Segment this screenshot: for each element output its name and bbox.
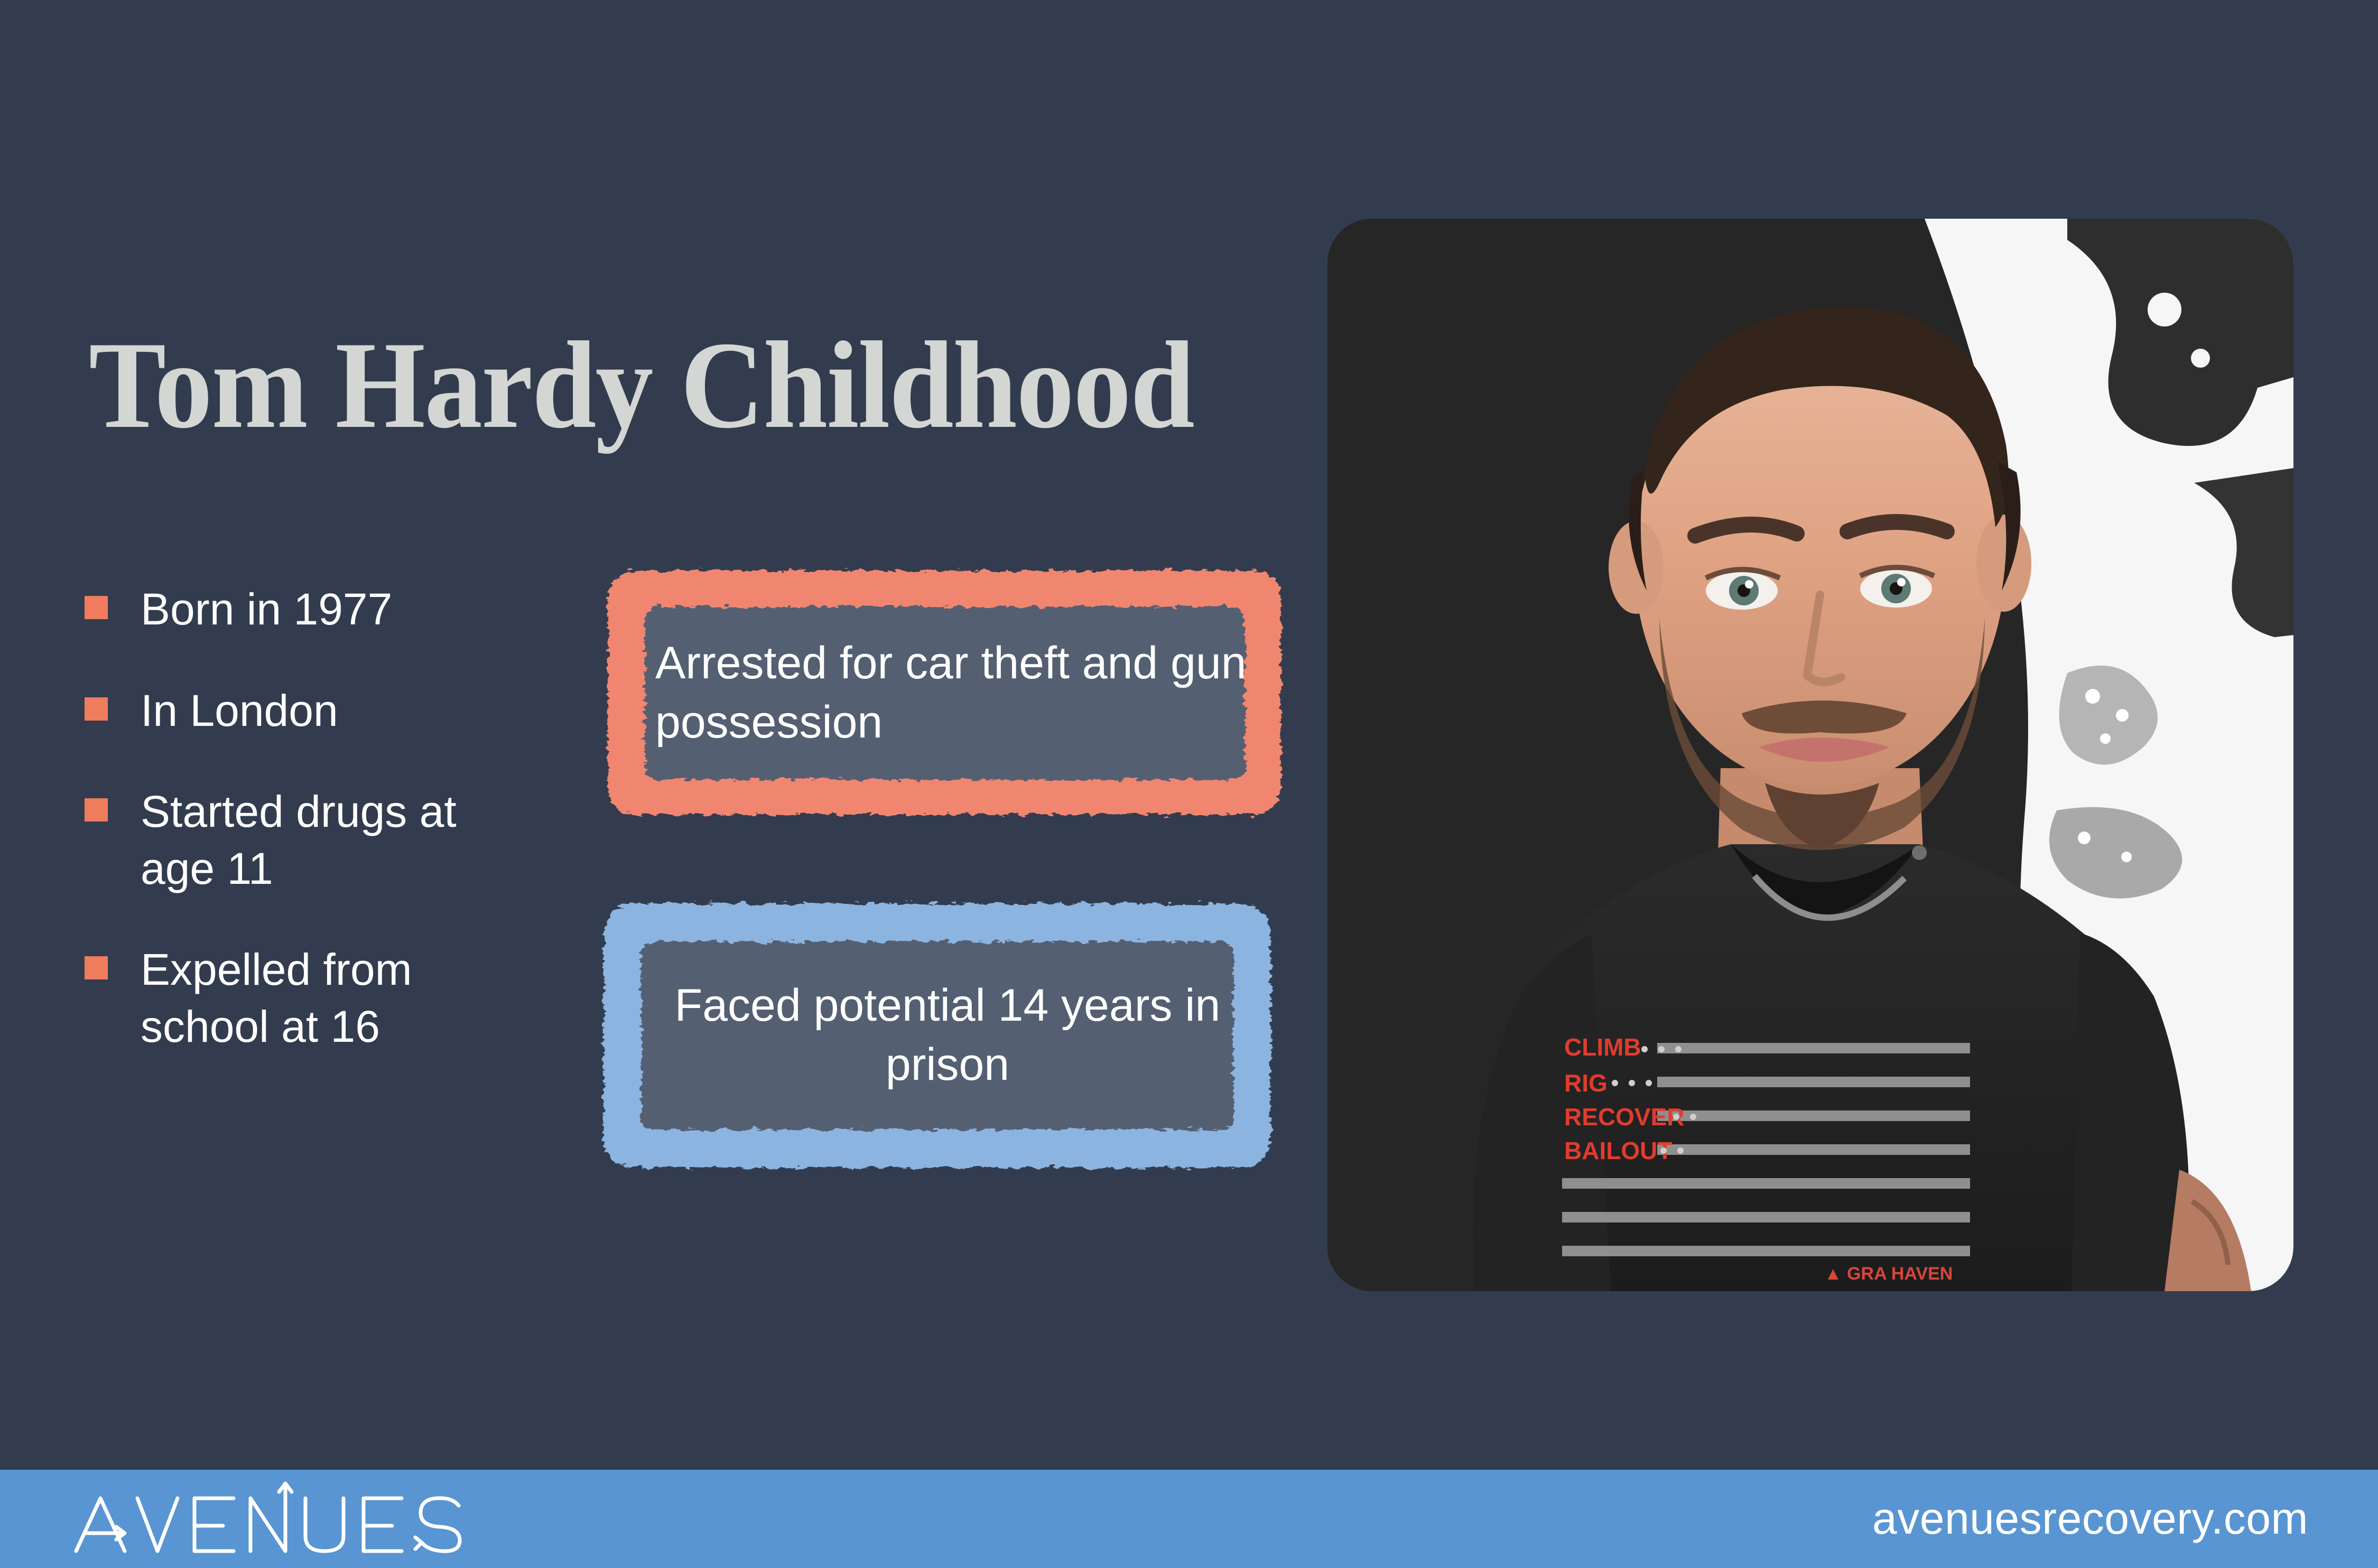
callout-prison-label: Faced potential 14 years in prison	[654, 976, 1241, 1095]
bullet-square-icon	[85, 798, 108, 822]
svg-text:RECOVER: RECOVER	[1564, 1103, 1684, 1131]
bullet-square-icon	[85, 697, 108, 721]
list-item-label: Started drugs at age 11	[141, 783, 468, 897]
list-item-label: In London	[141, 683, 338, 740]
avenues-logo[interactable]	[63, 1481, 497, 1561]
bullet-square-icon	[85, 596, 108, 619]
svg-text:CLIMB: CLIMB	[1564, 1033, 1641, 1061]
list-item: Expelled from school at 16	[85, 941, 560, 1055]
page-title: Tom Hardy Childhood	[89, 323, 1268, 448]
footer-bar: avenuesrecovery.com	[0, 1470, 2378, 1568]
callout-arrest-body: Arrested for car theft and gun possessio…	[596, 634, 1294, 752]
bullet-square-icon	[85, 956, 108, 979]
list-item: Started drugs at age 11	[85, 783, 560, 897]
callout-prison-body: Faced potential 14 years in prison	[591, 976, 1283, 1095]
callout-arrest-label: Arrested for car theft and gun possessio…	[655, 634, 1262, 752]
svg-text:BAILOUT: BAILOUT	[1564, 1137, 1672, 1164]
list-item: In London	[85, 683, 560, 740]
callout-prison: Faced potential 14 years in prison	[591, 893, 1283, 1178]
slide-root: Tom Hardy Childhood Born in 1977 In Lond…	[0, 0, 2378, 1568]
fact-list: Born in 1977 In London Started drugs at …	[85, 581, 560, 1099]
svg-text:RIG: RIG	[1564, 1069, 1608, 1097]
portrait-photo: CLIMB RIG RECOVER BAILOUT ▲ GRA HAVEN	[1327, 219, 2293, 1291]
callout-arrest: Arrested for car theft and gun possessio…	[596, 561, 1294, 825]
list-item-label: Born in 1977	[141, 581, 392, 638]
svg-text:▲ GRA HAVEN: ▲ GRA HAVEN	[1824, 1264, 1953, 1284]
website-url[interactable]: avenuesrecovery.com	[1872, 1496, 2308, 1541]
list-item-label: Expelled from school at 16	[141, 941, 468, 1055]
list-item: Born in 1977	[85, 581, 560, 638]
